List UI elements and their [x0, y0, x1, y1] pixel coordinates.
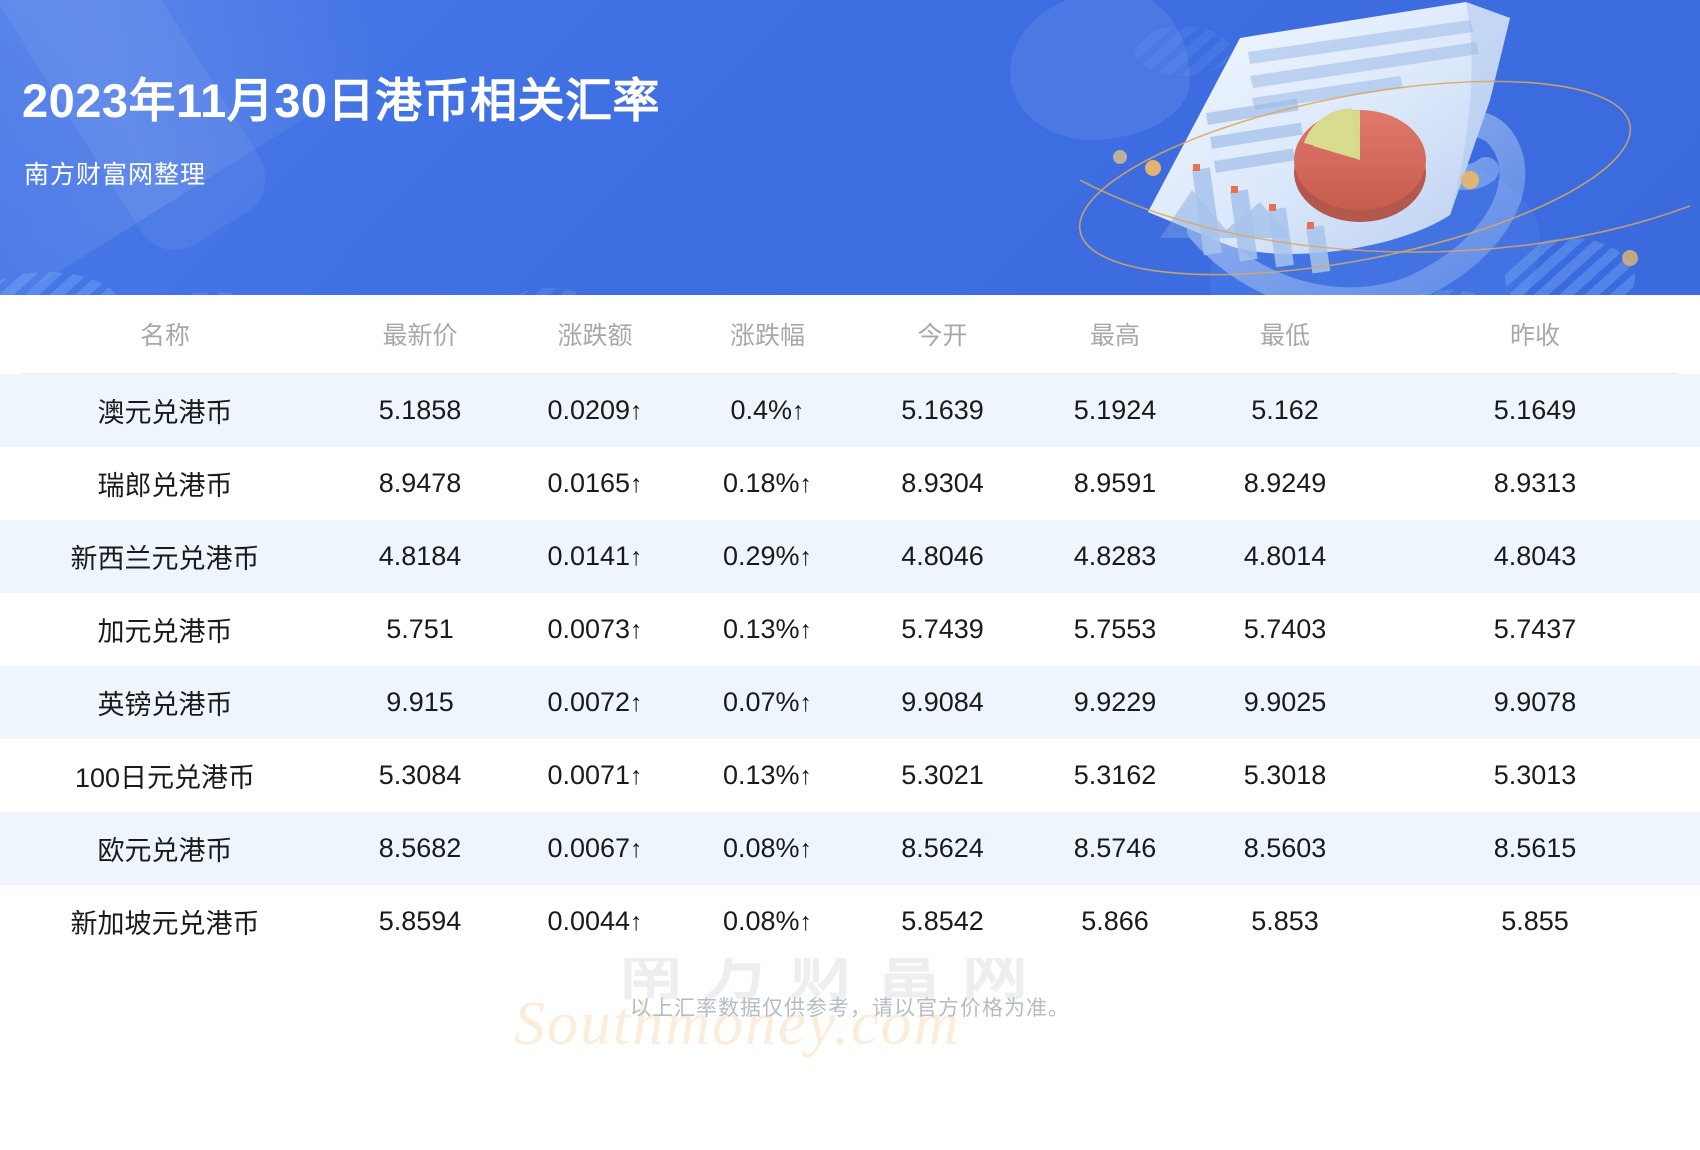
cell-low: 9.9025: [1200, 666, 1370, 739]
cell-change: 0.0072↑: [510, 666, 680, 739]
cell-pct-value: 0.07%: [723, 687, 800, 717]
cell-last-price: 8.9478: [330, 447, 510, 520]
cell-change-value: 0.0073: [547, 614, 630, 644]
column-header-change-pct[interactable]: 涨跌幅: [680, 295, 855, 373]
column-header-low[interactable]: 最低: [1200, 295, 1370, 373]
page-header: 2023年11月30日港币相关汇率 南方财富网整理: [0, 0, 1700, 295]
cell-low: 8.5603: [1200, 812, 1370, 885]
cell-change-pct: 0.07%↑: [680, 666, 855, 739]
table-header: 名称 最新价 涨跌额 涨跌幅 今开 最高 最低 昨收: [0, 295, 1700, 373]
cell-pct-value: 0.08%: [723, 906, 800, 936]
page-subtitle: 南方财富网整理: [24, 155, 206, 191]
cell-change-value: 0.0067: [547, 833, 630, 863]
cell-prev-close: 8.5615: [1370, 812, 1700, 885]
cell-prev-close: 5.7437: [1370, 593, 1700, 666]
arrow-up-icon: ↑: [630, 908, 643, 936]
cell-pct-value: 0.4%: [730, 395, 792, 425]
cell-change: 0.0067↑: [510, 812, 680, 885]
cell-prev-close: 8.9313: [1370, 447, 1700, 520]
cell-open: 4.8046: [855, 520, 1030, 593]
cell-name: 欧元兑港币: [0, 812, 330, 885]
cell-change-value: 0.0072: [547, 687, 630, 717]
striped-oval-icon: [505, 288, 595, 295]
cell-change-pct: 0.13%↑: [680, 593, 855, 666]
table-body: 澳元兑港币 5.1858 0.0209↑ 0.4%↑ 5.1639 5.1924…: [0, 374, 1700, 958]
cell-pct-value: 0.29%: [723, 541, 800, 571]
arrow-up-icon: ↑: [792, 397, 805, 425]
cell-change: 0.0073↑: [510, 593, 680, 666]
cell-change: 0.0165↑: [510, 447, 680, 520]
exchange-rates-table: 名称 最新价 涨跌额 涨跌幅 今开 最高 最低 昨收: [0, 295, 1700, 373]
arrow-up-icon: ↑: [630, 616, 643, 644]
cell-last-price: 5.8594: [330, 885, 510, 958]
cell-last-price: 5.1858: [330, 374, 510, 447]
cell-name: 加元兑港币: [0, 593, 330, 666]
cell-change-value: 0.0165: [547, 468, 630, 498]
cell-change-value: 0.0044: [547, 906, 630, 936]
cell-change: 0.0071↑: [510, 739, 680, 812]
cell-high: 8.9591: [1030, 447, 1200, 520]
arrow-up-icon: ↑: [630, 835, 643, 863]
table-row[interactable]: 加元兑港币 5.751 0.0073↑ 0.13%↑ 5.7439 5.7553…: [0, 593, 1700, 666]
cell-open: 5.1639: [855, 374, 1030, 447]
arrow-up-icon: ↑: [630, 689, 643, 717]
column-header-high[interactable]: 最高: [1030, 295, 1200, 373]
cell-change-value: 0.0071: [547, 760, 630, 790]
cell-last-price: 9.915: [330, 666, 510, 739]
exchange-rates-body: 澳元兑港币 5.1858 0.0209↑ 0.4%↑ 5.1639 5.1924…: [0, 374, 1700, 958]
cell-change-pct: 0.18%↑: [680, 447, 855, 520]
cell-high: 5.7553: [1030, 593, 1200, 666]
table-row[interactable]: 澳元兑港币 5.1858 0.0209↑ 0.4%↑ 5.1639 5.1924…: [0, 374, 1700, 447]
table-header-row: 名称 最新价 涨跌额 涨跌幅 今开 最高 最低 昨收: [0, 295, 1700, 373]
cell-low: 4.8014: [1200, 520, 1370, 593]
arrow-up-icon: ↑: [630, 397, 643, 425]
report-illustration: [930, 0, 1700, 295]
cell-name: 新西兰元兑港币: [0, 520, 330, 593]
cell-open: 8.9304: [855, 447, 1030, 520]
arrow-up-icon: ↑: [800, 543, 813, 571]
cell-name: 瑞郎兑港币: [0, 447, 330, 520]
cell-change-pct: 0.4%↑: [680, 374, 855, 447]
arrow-up-icon: ↑: [630, 470, 643, 498]
cell-change-value: 0.0141: [547, 541, 630, 571]
page-title: 2023年11月30日港币相关汇率: [22, 62, 660, 131]
table-row[interactable]: 欧元兑港币 8.5682 0.0067↑ 0.08%↑ 8.5624 8.574…: [0, 812, 1700, 885]
arrow-up-icon: ↑: [800, 835, 813, 863]
striped-oval-icon: [0, 272, 122, 295]
cell-change-pct: 0.29%↑: [680, 520, 855, 593]
cell-last-price: 4.8184: [330, 520, 510, 593]
cell-high: 9.9229: [1030, 666, 1200, 739]
cell-prev-close: 4.8043: [1370, 520, 1700, 593]
cell-prev-close: 5.855: [1370, 885, 1700, 958]
column-header-last-price[interactable]: 最新价: [330, 295, 510, 373]
cell-last-price: 8.5682: [330, 812, 510, 885]
cell-open: 5.3021: [855, 739, 1030, 812]
cell-low: 5.3018: [1200, 739, 1370, 812]
cell-low: 5.162: [1200, 374, 1370, 447]
arrow-up-icon: ↑: [630, 762, 643, 790]
arrow-up-icon: ↑: [800, 689, 813, 717]
cell-open: 5.8542: [855, 885, 1030, 958]
cell-change-pct: 0.08%↑: [680, 885, 855, 958]
cell-open: 9.9084: [855, 666, 1030, 739]
cell-change-pct: 0.13%↑: [680, 739, 855, 812]
cell-last-price: 5.751: [330, 593, 510, 666]
arrow-up-icon: ↑: [800, 616, 813, 644]
cell-last-price: 5.3084: [330, 739, 510, 812]
cell-name: 澳元兑港币: [0, 374, 330, 447]
cell-low: 5.853: [1200, 885, 1370, 958]
column-header-open[interactable]: 今开: [855, 295, 1030, 373]
cell-prev-close: 5.1649: [1370, 374, 1700, 447]
cell-name: 100日元兑港币: [0, 739, 330, 812]
cell-high: 4.8283: [1030, 520, 1200, 593]
rates-table-container: 南方财富网 Southmoney.com 名称 最新价 涨跌额 涨跌幅 今开 最…: [0, 295, 1700, 1022]
cell-high: 5.866: [1030, 885, 1200, 958]
table-row[interactable]: 100日元兑港币 5.3084 0.0071↑ 0.13%↑ 5.3021 5.…: [0, 739, 1700, 812]
cell-high: 8.5746: [1030, 812, 1200, 885]
arrow-up-icon: ↑: [630, 543, 643, 571]
cell-prev-close: 9.9078: [1370, 666, 1700, 739]
disclaimer-note: 以上汇率数据仅供参考，请以官方价格为准。: [0, 992, 1700, 1022]
cell-change: 0.0141↑: [510, 520, 680, 593]
cell-high: 5.1924: [1030, 374, 1200, 447]
cell-change: 0.0044↑: [510, 885, 680, 958]
cell-change: 0.0209↑: [510, 374, 680, 447]
cell-pct-value: 0.13%: [723, 614, 800, 644]
arrow-up-icon: ↑: [800, 762, 813, 790]
arrow-up-icon: ↑: [800, 908, 813, 936]
cell-low: 8.9249: [1200, 447, 1370, 520]
cell-pct-value: 0.13%: [723, 760, 800, 790]
table-row[interactable]: 瑞郎兑港币 8.9478 0.0165↑ 0.18%↑ 8.9304 8.959…: [0, 447, 1700, 520]
cell-pct-value: 0.18%: [723, 468, 800, 498]
cell-name: 新加坡元兑港币: [0, 885, 330, 958]
cell-high: 5.3162: [1030, 739, 1200, 812]
table-row[interactable]: 英镑兑港币 9.915 0.0072↑ 0.07%↑ 9.9084 9.9229…: [0, 666, 1700, 739]
column-header-prev-close[interactable]: 昨收: [1370, 295, 1700, 373]
cell-pct-value: 0.08%: [723, 833, 800, 863]
cell-change-pct: 0.08%↑: [680, 812, 855, 885]
cell-low: 5.7403: [1200, 593, 1370, 666]
column-header-change[interactable]: 涨跌额: [510, 295, 680, 373]
cell-change-value: 0.0209: [547, 395, 630, 425]
cell-prev-close: 5.3013: [1370, 739, 1700, 812]
arrow-up-icon: ↑: [800, 470, 813, 498]
column-header-name[interactable]: 名称: [0, 295, 330, 373]
cell-name: 英镑兑港币: [0, 666, 330, 739]
cell-open: 8.5624: [855, 812, 1030, 885]
table-row[interactable]: 新西兰元兑港币 4.8184 0.0141↑ 0.29%↑ 4.8046 4.8…: [0, 520, 1700, 593]
table-row[interactable]: 新加坡元兑港币 5.8594 0.0044↑ 0.08%↑ 5.8542 5.8…: [0, 885, 1700, 958]
cell-open: 5.7439: [855, 593, 1030, 666]
